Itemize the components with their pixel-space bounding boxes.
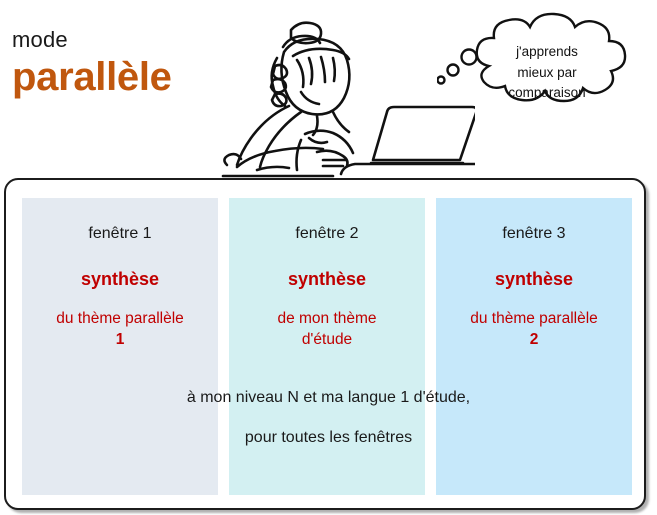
thought-bubble-line-1: j'apprends — [516, 42, 578, 63]
thought-bubble-text: j'apprends mieux par comparaison — [437, 4, 657, 136]
window-column-3[interactable]: fenêtre 3 synthèse du thème parallèle 2 — [436, 198, 632, 495]
window-detail-2: de mon thème d'étude — [233, 309, 421, 351]
synthese-label-2: synthèse — [233, 269, 421, 291]
window-detail-1-line-1: du thème parallèle — [56, 310, 184, 327]
mode-name-title: parallèle — [12, 56, 227, 98]
window-column-2[interactable]: fenêtre 2 synthèse de mon thème d'étude — [229, 198, 425, 495]
synthese-label-1: synthèse — [26, 269, 214, 291]
window-detail-3-line-1: du thème parallèle — [470, 310, 598, 327]
window-label-2: fenêtre 2 — [233, 224, 421, 243]
window-column-1[interactable]: fenêtre 1 synthèse du thème parallèle 1 — [22, 198, 218, 495]
synthese-label-3: synthèse — [440, 269, 628, 291]
window-label-1: fenêtre 1 — [26, 224, 214, 243]
header-area: mode parallèle — [0, 0, 657, 178]
mode-label: mode — [12, 28, 227, 52]
window-detail-3-line-2: 2 — [440, 330, 628, 351]
window-detail-1-line-2: 1 — [26, 330, 214, 351]
title-block: mode parallèle — [12, 28, 227, 98]
parallel-mode-panel: fenêtre 1 synthèse du thème parallèle 1 … — [4, 178, 646, 510]
person-studying-at-laptop-illustration — [205, 0, 475, 178]
thought-bubble-line-3: comparaison — [508, 83, 585, 104]
window-detail-1: du thème parallèle 1 — [26, 309, 214, 351]
thought-bubble-line-2: mieux par — [517, 63, 576, 84]
window-detail-2-line-2: d'étude — [233, 330, 421, 351]
thought-bubble: j'apprends mieux par comparaison — [437, 4, 657, 136]
window-detail-2-line-1: de mon thème — [277, 310, 376, 327]
window-columns: fenêtre 1 synthèse du thème parallèle 1 … — [22, 198, 632, 495]
window-detail-3: du thème parallèle 2 — [440, 309, 628, 351]
window-label-3: fenêtre 3 — [440, 224, 628, 243]
